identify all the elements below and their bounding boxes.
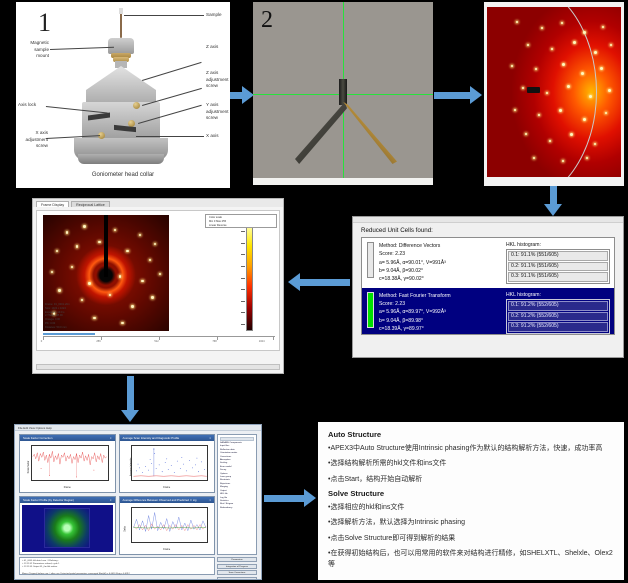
cell-axis-c: c=18.38Å, γ=90.02° xyxy=(379,275,506,283)
label-magnetic-mount: Magnetic sample mount xyxy=(21,40,49,60)
heading-auto-structure: Auto Structure xyxy=(328,430,616,439)
panel1-caption: Goniometer head collar xyxy=(16,172,230,178)
panel-goniometer-head: 1 Sample Magnetic sample mount Z axis Z … xyxy=(16,2,230,188)
plot-window-difference: Average Difference Between Observed and … xyxy=(119,496,216,555)
label-axis-lock: Axis lock xyxy=(18,102,36,109)
heading-solve-structure: Solve Structure xyxy=(328,489,616,498)
plot-window-scale-factor: Scale Factor Correction× Scale factor xyxy=(19,434,116,493)
plot-frame xyxy=(131,507,209,543)
axis-tick-0: 0 xyxy=(41,340,42,343)
console-line: > 12:11:55 Output 01_0m.hkl written xyxy=(22,566,212,569)
label-x-adjust: X axis adjustment screw xyxy=(18,130,48,150)
label-x-axis: X axis xyxy=(206,133,219,140)
goniometer-cone xyxy=(86,66,156,106)
plot-title: Average Difference Between Observed and … xyxy=(123,497,197,503)
hkl-histogram: HKL histogram: 0.1: 91.2% (552/605) 0.2:… xyxy=(506,292,610,334)
tab-reciprocal-lattice[interactable]: Reciprocal Lattice xyxy=(71,201,110,207)
label-y-adjust: Y axis adjustment screw xyxy=(206,102,228,122)
close-button[interactable]: Close xyxy=(217,577,257,581)
plot-title: Scale Factor Correction xyxy=(23,435,52,441)
mount-needle-right xyxy=(341,102,397,164)
cell-axis-c: c=18.39Å, γ=89.97° xyxy=(379,325,506,333)
crystal-loop xyxy=(339,79,347,105)
note-auto-3: •点击Start，结构开始自动解析 xyxy=(328,474,616,485)
mount-needle-left xyxy=(295,102,347,164)
cell-method: Method: Fast Fourier Transform xyxy=(379,292,506,300)
note-auto-1: •APEX3中Auto Structure使用Intrinsic phasing… xyxy=(328,443,616,454)
scaling-console: > 01_0001.hkl data Laue -1 Refining... >… xyxy=(19,557,215,575)
plot-window-scan-intensity: Average Scan Intensity and Diagnostic Pr… xyxy=(119,434,216,493)
scaling-parameter-tree[interactable]: SADABS Components Input files Reflection… xyxy=(217,434,257,555)
cell-method: Method: Difference Vectors xyxy=(379,242,506,250)
frame-viewer-body: Color scale Min 0 Max 255 Linear Reverse… xyxy=(36,210,280,351)
save-button[interactable]: Save Corrections xyxy=(217,570,257,575)
unit-cell-row-fast-fourier-transform[interactable]: Method: Fast Fourier Transform Score: 2.… xyxy=(362,288,614,335)
axis-tick-256: 256 xyxy=(96,340,100,343)
legend-line-1: Color scale xyxy=(209,216,222,219)
arrow-panel3-to-unit-cells xyxy=(543,186,563,216)
plot-titlebar: Average Scan Intensity and Diagnostic Pr… xyxy=(120,435,215,441)
resolution-arc xyxy=(487,7,597,177)
plot-titlebar: Scale Factor Correction× xyxy=(20,435,115,441)
panel-structure-notes: Auto Structure •APEX3中Auto Structure使用In… xyxy=(318,422,624,580)
plot-titlebar: Average Difference Between Observed and … xyxy=(120,497,215,503)
legend-line-3: Linear Reverse xyxy=(209,224,227,227)
hkl-bin-1: 0.1: 91.2% (552/605) xyxy=(508,301,608,311)
arrow-panel2-to-panel3 xyxy=(434,85,482,105)
hkl-bin-3: 0.3: 91.1% (551/605) xyxy=(508,272,608,282)
plot-area: Average intensity xyxy=(122,443,213,490)
beamstop-arm xyxy=(104,215,108,277)
cell-axis-b: b= 9.04Å, β=90.02° xyxy=(379,267,506,275)
plot-frame xyxy=(31,445,109,481)
plot-area: Delta Frame xyxy=(122,505,213,552)
tree-item[interactable]: Redundancy xyxy=(220,507,254,510)
color-scale-ticks xyxy=(235,215,245,331)
goniometer-block xyxy=(82,102,160,140)
load-progress-bar xyxy=(43,333,95,335)
sample-crystal xyxy=(119,8,123,14)
goniometer-collar xyxy=(78,154,164,164)
note-solve-1: •选择相应的hkl和ins文件 xyxy=(328,502,616,513)
hkl-histogram: HKL histogram: 0.1: 91.1% (551/605) 0.2:… xyxy=(506,242,610,284)
frame-info-text: Frame: 01_0001.sfrm Size: 1024 x 1024 Ex… xyxy=(45,303,70,330)
unit-cell-details: Method: Fast Fourier Transform Score: 2.… xyxy=(379,292,506,334)
tab-frame-display[interactable]: Frame Display xyxy=(36,201,69,207)
sample-pin xyxy=(120,12,122,38)
unit-cell-row-difference-vectors[interactable]: Method: Difference Vectors Score: 2.23 a… xyxy=(362,238,614,288)
hkl-histogram-box: 0.1: 91.2% (552/605) 0.2: 91.2% (552/605… xyxy=(506,299,610,334)
panel-reduced-unit-cells: Reduced Unit Cells found: Method: Differ… xyxy=(352,216,624,358)
console-line: Mean: (I/sigma) before corr. / after cor… xyxy=(22,573,212,576)
parameters-button[interactable]: Parameters xyxy=(217,557,257,562)
note-solve-4: •在获得初始结构后，也可以用常用的软件来对结构进行精修，如SHELXTL、She… xyxy=(328,548,616,571)
cell-axis-b: b= 9.04Å, β=89.98° xyxy=(379,317,506,325)
unit-cell-details: Method: Difference Vectors Score: 2.23 a… xyxy=(379,242,506,284)
hkl-bin-2: 0.2: 91.1% (551/605) xyxy=(508,262,608,272)
scaling-menubar[interactable]: File Edit View Options Help xyxy=(15,425,261,431)
panel-frame-viewer: Frame Display Reciprocal Lattice xyxy=(32,198,284,374)
cell-axis-a: a= 5.96Å, α=90.01°, V=991Å³ xyxy=(379,259,506,267)
axis-tick-768: 768 xyxy=(212,340,216,343)
color-scale-legend[interactable]: Color scale Min 0 Max 255 Linear Reverse xyxy=(205,214,277,228)
diffraction-pattern xyxy=(487,7,621,177)
leader-line-zaxis xyxy=(142,62,201,81)
detector-profile-surface xyxy=(44,508,90,548)
panel-crystal-centering: 2 xyxy=(253,2,433,185)
axis-tick-512: 512 xyxy=(154,340,158,343)
panel-diffraction-image xyxy=(484,2,624,186)
plot-titlebar: Scale Factor Profile (by Detector Region… xyxy=(20,497,115,503)
integration-button[interactable]: Integration of Progress xyxy=(217,564,257,569)
leader-line-magnetic xyxy=(50,47,114,50)
frame-axis: 0 256 512 768 1024 xyxy=(43,336,275,344)
axis-tick-1024: 1024 xyxy=(259,340,265,343)
label-z-axis: Z axis xyxy=(206,44,218,51)
plot-ylabel: Scale factor xyxy=(27,460,30,473)
hkl-bin-1: 0.1: 91.1% (551/605) xyxy=(508,251,608,261)
z-axis-adjustment-screw-head xyxy=(133,102,140,109)
beamstop-shadow xyxy=(527,87,540,93)
arrow-unit-cells-to-frame-viewer xyxy=(288,272,350,292)
unit-cells-list[interactable]: Method: Difference Vectors Score: 2.23 a… xyxy=(361,237,615,335)
cell-score: Score: 2.23 xyxy=(379,250,506,258)
plot-title: Average Scan Intensity and Diagnostic Pr… xyxy=(123,435,180,441)
note-solve-3: •点击Solve Structure即可得到解析的结果 xyxy=(328,533,616,544)
plot-window-detector-profile: Scale Factor Profile (by Detector Region… xyxy=(19,496,116,555)
frame-viewer-statusbar: Image Header: 01_0001.sfrm Loaded Frame xyxy=(36,364,280,370)
score-gauge xyxy=(367,242,374,278)
legend-line-2: Min 0 Max 255 xyxy=(209,220,226,223)
scaling-plot-grid: Scale Factor Correction× Scale factor xyxy=(19,434,215,555)
score-gauge xyxy=(367,292,374,328)
plot-xlabel: Frame xyxy=(122,548,213,551)
plot-xlabel: Frame xyxy=(122,486,213,489)
tree-header xyxy=(220,437,254,441)
plot-frame xyxy=(131,445,209,481)
hkl-bin-3: 0.3: 91.2% (552/605) xyxy=(508,322,608,332)
plot-xlabel: Frame xyxy=(22,486,113,489)
label-z-adjust: Z axis adjustment screw xyxy=(206,70,228,90)
arrow-scaling-to-structure-notes xyxy=(264,488,316,508)
panel-number-2: 2 xyxy=(261,7,273,34)
unit-cells-heading: Reduced Unit Cells found: xyxy=(353,223,623,237)
scaling-buttons: Parameters Integration of Progress Save … xyxy=(217,557,257,575)
hkl-histogram-title: HKL histogram: xyxy=(506,242,610,248)
leader-line-sample xyxy=(124,15,204,16)
cell-axis-a: a= 5.96Å, α=89.97°, V=992Å³ xyxy=(379,308,506,316)
note-solve-2: •选择解析方法，默认选择为Intrinsic phasing xyxy=(328,517,616,528)
plot-ylabel: Delta xyxy=(123,526,126,532)
color-scale-bar xyxy=(246,215,253,331)
leader-line-xaxis xyxy=(136,136,204,137)
hkl-bin-2: 0.2: 91.2% (552/605) xyxy=(508,312,608,322)
microscope-base-strip xyxy=(253,178,433,185)
hkl-histogram-box: 0.1: 91.1% (551/605) 0.2: 91.1% (551/605… xyxy=(506,249,610,284)
plot-area-surface xyxy=(22,505,113,552)
arrow-frame-viewer-to-scaling xyxy=(120,376,140,422)
arrow-panel1-to-panel2 xyxy=(230,85,254,105)
note-auto-2: •选择结构解析所需的hkl文件和ins文件 xyxy=(328,458,616,469)
cell-score: Score: 2.23 xyxy=(379,300,506,308)
hkl-histogram-title: HKL histogram: xyxy=(506,292,610,298)
panel-scaling-window: File Edit View Options Help Scale Factor… xyxy=(14,424,262,580)
plot-area: Scale factor Frame xyxy=(22,443,113,490)
label-sample: Sample xyxy=(206,12,222,19)
plot-title: Scale Factor Profile (by Detector Region… xyxy=(23,497,74,503)
goniometer-illustration: Sample Magnetic sample mount Z axis Z ax… xyxy=(16,2,230,188)
frame-viewer-tabs[interactable]: Frame Display Reciprocal Lattice xyxy=(33,199,283,207)
